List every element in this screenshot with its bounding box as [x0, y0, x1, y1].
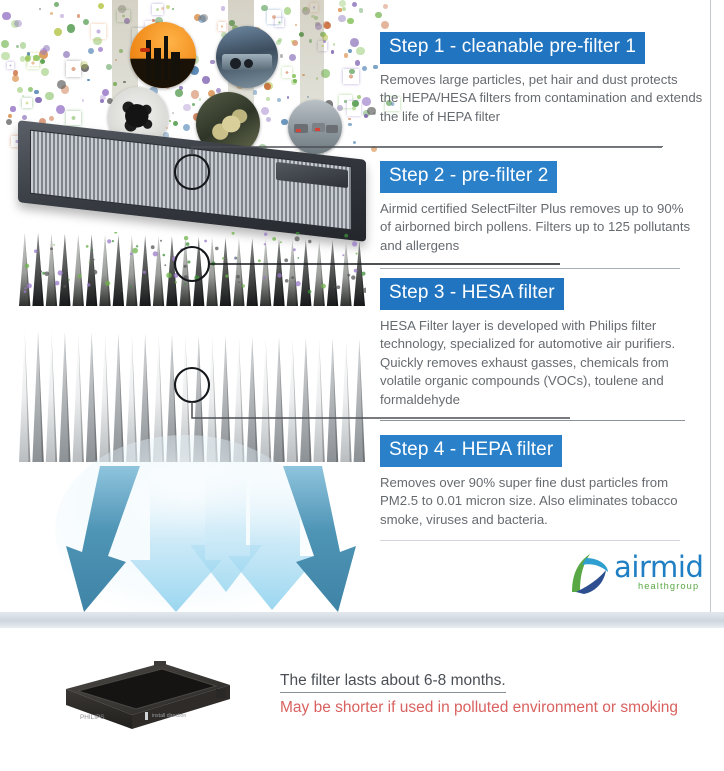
- airmid-logo-tagline: healthgroup: [638, 581, 699, 591]
- separator-2: [380, 268, 680, 269]
- step-block-4: Step 4 - HEPA filter Removes over 90% su…: [380, 435, 724, 529]
- separator-3: [380, 420, 685, 421]
- device-brand-label: PHILIPS: [80, 714, 105, 721]
- callout-circle-2: [175, 247, 209, 281]
- filter-cassette-image: PHILIPS install direction: [44, 655, 234, 741]
- horizontal-divider-band: [0, 612, 724, 628]
- step-4-body: Removes over 90% super fine dust particl…: [380, 474, 724, 529]
- device-install-label: install direction: [152, 713, 186, 719]
- leader-line-1: [192, 147, 662, 155]
- philips-filter-cassette: PHILIPS install direction: [44, 655, 234, 741]
- callout-circle-3: [175, 368, 209, 402]
- step-3-title: Step 3 - HESA filter: [380, 278, 564, 310]
- step-1-body: Removes large particles, pet hair and du…: [380, 71, 724, 126]
- airmid-logo-text: airmid: [614, 550, 704, 584]
- separator-1: [380, 146, 663, 147]
- airmid-swoosh-icon: [566, 548, 612, 596]
- step-2-title: Step 2 - pre-filter 2: [380, 161, 557, 193]
- step-3-body: HESA Filter layer is developed with Phil…: [380, 317, 724, 409]
- callout-circle-1: [175, 155, 209, 189]
- step-2-body: Airmid certified SelectFilter Plus remov…: [380, 200, 724, 255]
- separator-4: [380, 540, 680, 541]
- airmid-logo: airmid healthgroup: [566, 548, 710, 600]
- step-1-title: Step 1 - cleanable pre-filter 1: [380, 32, 645, 64]
- step-block-1: Step 1 - cleanable pre-filter 1 Removes …: [380, 32, 724, 126]
- footer-warning-text: May be shorter if used in polluted envir…: [280, 699, 678, 717]
- step-4-title: Step 4 - HEPA filter: [380, 435, 562, 467]
- footer-lifespan-text: The filter lasts about 6-8 months.: [280, 672, 506, 693]
- infographic-canvas: Step 1 - cleanable pre-filter 1 Removes …: [0, 0, 724, 771]
- step-block-3: Step 3 - HESA filter HESA Filter layer i…: [380, 278, 724, 409]
- step-block-2: Step 2 - pre-filter 2 Airmid certified S…: [380, 161, 724, 255]
